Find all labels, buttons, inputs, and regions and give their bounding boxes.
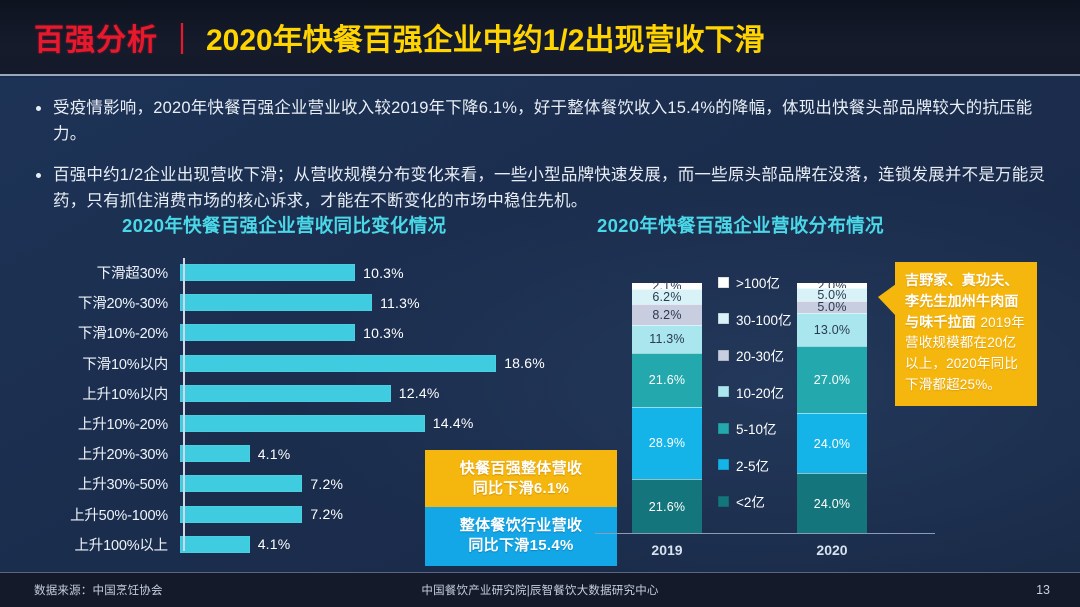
hbar-bar-wrap: 14.4% bbox=[177, 415, 560, 432]
hbar-bar bbox=[180, 415, 425, 432]
hbar-bar bbox=[180, 385, 391, 402]
speech-callout-brands: 吉野家、真功夫、李先生加州牛肉面与味千拉面 2019年营收规模都在20亿以上，2… bbox=[895, 262, 1037, 406]
hbar-bar bbox=[180, 445, 250, 462]
legend-swatch-icon bbox=[718, 313, 729, 324]
bullet-list: 受疫情影响，2020年快餐百强企业营业收入较2019年下降6.1%，好于整体餐饮… bbox=[36, 96, 1048, 230]
hbar-row: 下滑超30%10.3% bbox=[70, 258, 560, 287]
legend-item[interactable]: 5-10亿 bbox=[718, 410, 808, 447]
legend-item[interactable]: 10-20亿 bbox=[718, 374, 808, 411]
legend-label: 20-30亿 bbox=[736, 345, 784, 365]
speech-tail-icon bbox=[878, 284, 896, 316]
stack-segment: 8.2% bbox=[632, 304, 702, 325]
callout-line-1: 快餐百强整体营收 bbox=[431, 459, 611, 479]
hbar-bar bbox=[180, 475, 302, 492]
title-main: 2020年快餐百强企业中约1/2出现营收下滑 bbox=[206, 15, 764, 59]
stacked-bar-2019: 2.1%6.2%8.2%11.3%21.6%28.9%21.6% bbox=[632, 283, 702, 533]
legend-label: <2亿 bbox=[736, 491, 765, 511]
callout-line-1: 整体餐饮行业营收 bbox=[431, 516, 611, 536]
stack-segment-label: 28.9% bbox=[649, 436, 685, 450]
legend-swatch-icon bbox=[718, 386, 729, 397]
hbar-bar bbox=[180, 536, 250, 553]
stack-segment: 6.2% bbox=[632, 289, 702, 305]
chart-panel-yoy-change: 2020年快餐百强企业营收同比变化情况 下滑超30%10.3%下滑20%-30%… bbox=[70, 212, 560, 564]
bullet-dot-icon bbox=[36, 173, 41, 178]
hbar-row: 上升10%-20%14.4% bbox=[70, 409, 560, 438]
stack-segment-label: 8.2% bbox=[652, 308, 681, 322]
hbar-value-label: 4.1% bbox=[258, 536, 291, 552]
callout-line-2: 同比下滑15.4% bbox=[431, 536, 611, 556]
hbar-category-label: 下滑20%-30% bbox=[70, 292, 177, 313]
hbar-bar-wrap: 10.3% bbox=[177, 324, 560, 341]
legend-swatch-icon bbox=[718, 423, 729, 434]
legend-label: 5-10亿 bbox=[736, 418, 777, 438]
stack-plot-area: 2.1%6.2%8.2%11.3%21.6%28.9%21.6% 2.0%5.0… bbox=[585, 256, 1060, 566]
chart-legend: >100亿30-100亿20-30亿10-20亿5-10亿2-5亿<2亿 bbox=[718, 264, 808, 520]
legend-swatch-icon bbox=[718, 459, 729, 470]
x-axis-label-2019: 2019 bbox=[632, 542, 702, 558]
legend-item[interactable]: 20-30亿 bbox=[718, 337, 808, 374]
callout-line-2: 同比下滑6.1% bbox=[431, 479, 611, 499]
chart-title-yoy: 2020年快餐百强企业营收同比变化情况 bbox=[70, 212, 560, 238]
bullet-item: 百强中约1/2企业出现营收下滑；从营收规模分布变化来看，一些小型品牌快速发展，而… bbox=[36, 163, 1048, 214]
hbar-bar bbox=[180, 264, 355, 281]
stack-segment: 11.3% bbox=[632, 325, 702, 353]
legend-item[interactable]: <2亿 bbox=[718, 483, 808, 520]
x-axis-label-2020: 2020 bbox=[797, 542, 867, 558]
title-separator: ｜ bbox=[167, 15, 197, 59]
legend-item[interactable]: >100亿 bbox=[718, 264, 808, 301]
hbar-category-label: 上升10%以内 bbox=[70, 383, 177, 404]
hbar-row: 下滑20%-30%11.3% bbox=[70, 288, 560, 317]
hbar-value-label: 10.3% bbox=[363, 325, 404, 341]
slide-footer: 中国餐饮产业研究院|辰智餐饮大数据研究中心 数据来源：中国烹饪协会 13 bbox=[0, 572, 1080, 607]
hbar-bar bbox=[180, 355, 496, 372]
legend-swatch-icon bbox=[718, 350, 729, 361]
hbar-row: 下滑10%-20%10.3% bbox=[70, 318, 560, 347]
page-title: 百强分析 ｜ 2020年快餐百强企业中约1/2出现营收下滑 bbox=[0, 15, 764, 59]
hbar-row: 下滑10%以内18.6% bbox=[70, 349, 560, 378]
hbar-bar-wrap: 12.4% bbox=[177, 385, 560, 402]
hbar-value-label: 10.3% bbox=[363, 265, 404, 281]
hbar-value-label: 4.1% bbox=[258, 446, 291, 462]
vertical-axis-line bbox=[183, 258, 185, 551]
hbar-value-label: 18.6% bbox=[504, 355, 545, 371]
chart-title-distribution: 2020年快餐百强企业营收分布情况 bbox=[585, 212, 1060, 238]
hbar-bar bbox=[180, 294, 372, 311]
bullet-item: 受疫情影响，2020年快餐百强企业营业收入较2019年下降6.1%，好于整体餐饮… bbox=[36, 96, 1048, 147]
chart-panel-revenue-distribution: 2020年快餐百强企业营收分布情况 2.1%6.2%8.2%11.3%21.6%… bbox=[585, 212, 1060, 564]
stack-segment: 28.9% bbox=[632, 407, 702, 479]
hbar-bar-wrap: 18.6% bbox=[177, 355, 560, 372]
stack-segment: 21.6% bbox=[632, 479, 702, 533]
stack-segment-label: 21.6% bbox=[649, 373, 685, 387]
legend-label: 10-20亿 bbox=[736, 382, 784, 402]
legend-swatch-icon bbox=[718, 496, 729, 507]
stack-segment-label: 6.2% bbox=[652, 290, 681, 304]
legend-swatch-icon bbox=[718, 277, 729, 288]
stack-segment-label: 13.0% bbox=[814, 323, 850, 337]
hbar-value-label: 7.2% bbox=[310, 476, 343, 492]
hbar-bar-wrap: 10.3% bbox=[177, 264, 560, 281]
hbar-value-label: 11.3% bbox=[380, 295, 420, 311]
hbar-row: 上升10%以内12.4% bbox=[70, 379, 560, 408]
hbar-value-label: 14.4% bbox=[433, 415, 474, 431]
hbar-bar-wrap: 11.3% bbox=[177, 294, 560, 311]
bullet-text: 受疫情影响，2020年快餐百强企业营业收入较2019年下降6.1%，好于整体餐饮… bbox=[53, 96, 1048, 147]
hbar-category-label: 上升10%-20% bbox=[70, 413, 177, 434]
slide-header: 百强分析 ｜ 2020年快餐百强企业中约1/2出现营收下滑 bbox=[0, 0, 1080, 76]
bullet-dot-icon bbox=[36, 106, 41, 111]
stack-segment-label: 27.0% bbox=[814, 373, 850, 387]
hbar-value-label: 12.4% bbox=[399, 385, 440, 401]
legend-item[interactable]: 2-5亿 bbox=[718, 447, 808, 484]
hbar-category-label: 上升20%-30% bbox=[70, 443, 177, 464]
title-category: 百强分析 bbox=[34, 15, 158, 59]
legend-label: 30-100亿 bbox=[736, 309, 792, 329]
bullet-text: 百强中约1/2企业出现营收下滑；从营收规模分布变化来看，一些小型品牌快速发展，而… bbox=[53, 163, 1048, 214]
stack-segment-label: 11.3% bbox=[649, 332, 685, 346]
hbar-category-label: 下滑10%-20% bbox=[70, 322, 177, 343]
stack-segment-label: 24.0% bbox=[814, 437, 850, 451]
hbar-bar bbox=[180, 324, 355, 341]
hbar-category-label: 上升100%以上 bbox=[70, 534, 177, 555]
legend-item[interactable]: 30-100亿 bbox=[718, 301, 808, 338]
hbar-category-label: 下滑10%以内 bbox=[70, 353, 177, 374]
hbar-bar bbox=[180, 506, 302, 523]
footer-source-text: 数据来源：中国烹饪协会 bbox=[34, 582, 163, 598]
hbar-category-label: 下滑超30% bbox=[70, 262, 177, 283]
legend-label: 2-5亿 bbox=[736, 455, 769, 475]
legend-label: >100亿 bbox=[736, 272, 780, 292]
horizontal-axis-line bbox=[595, 533, 935, 534]
hbar-category-label: 上升50%-100% bbox=[70, 504, 177, 525]
hbar-category-label: 上升30%-50% bbox=[70, 473, 177, 494]
stack-segment: 21.6% bbox=[632, 353, 702, 407]
stack-segment-label: 21.6% bbox=[649, 500, 685, 514]
hbar-value-label: 7.2% bbox=[310, 506, 343, 522]
footer-page-number: 13 bbox=[1036, 583, 1050, 597]
stack-segment-label: 24.0% bbox=[814, 497, 850, 511]
